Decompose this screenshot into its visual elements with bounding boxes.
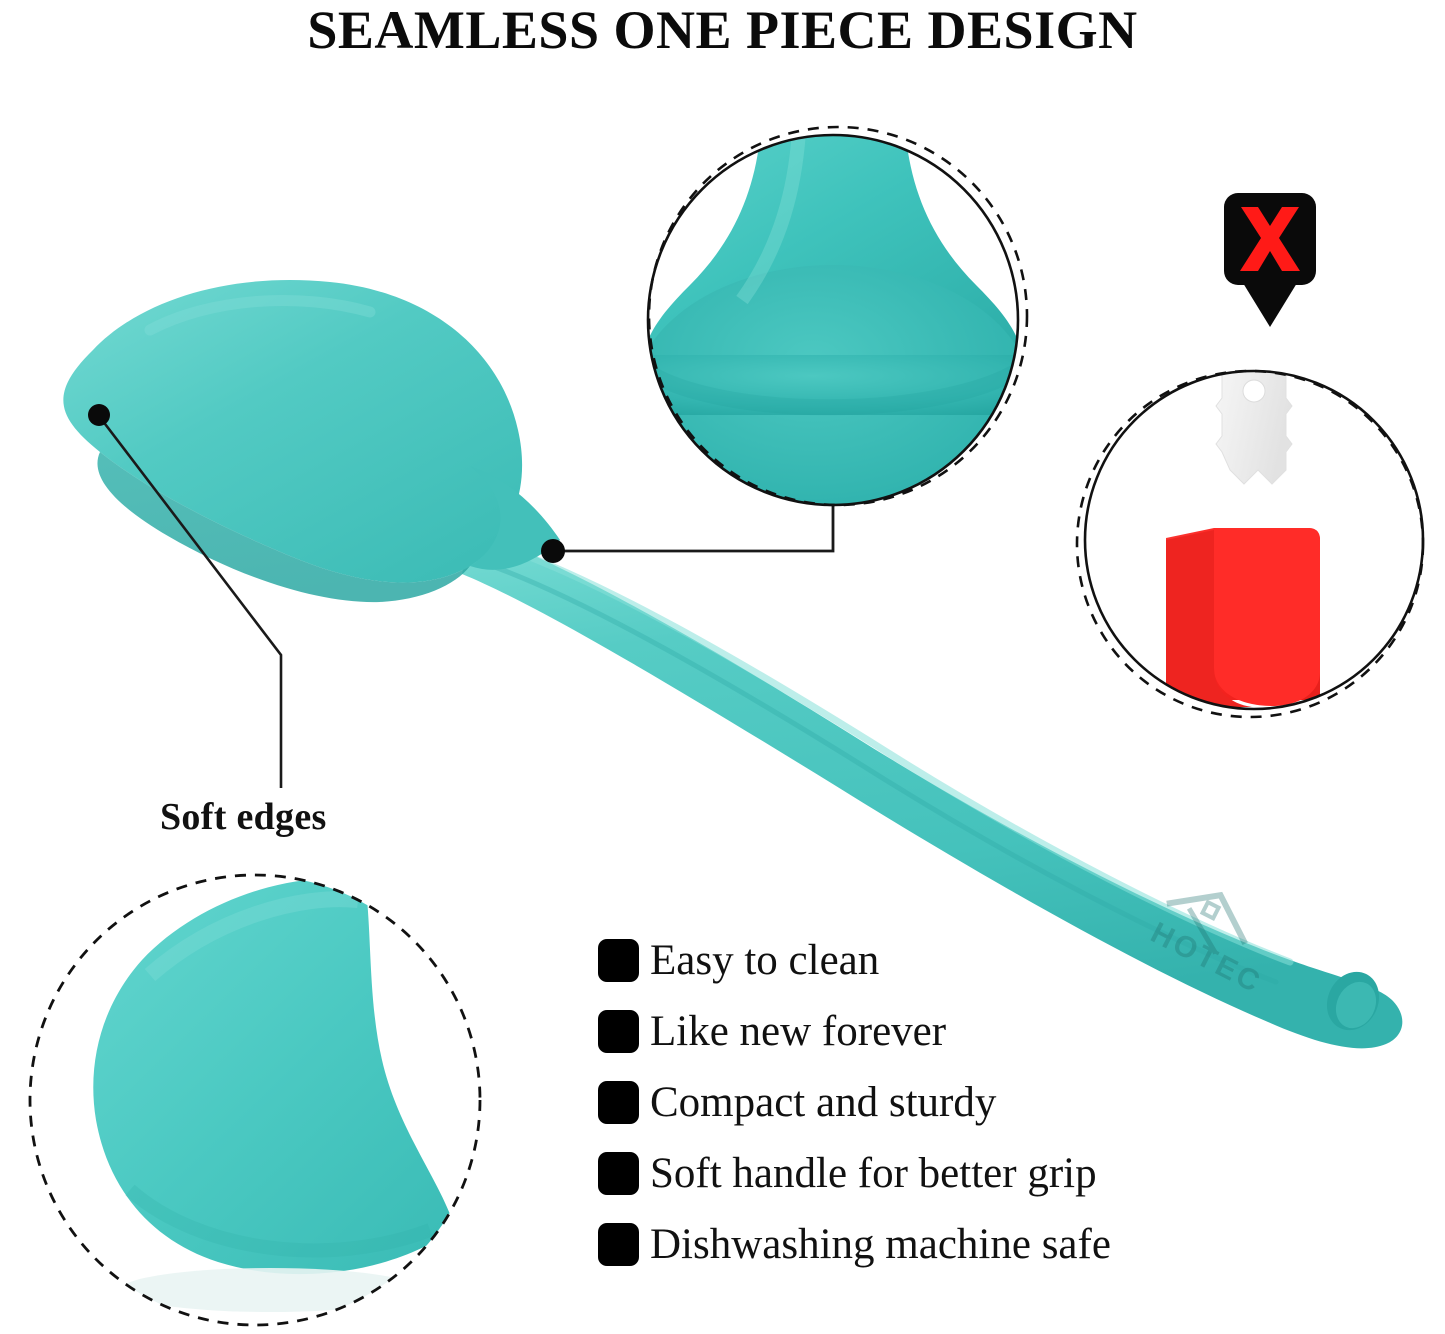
bullet-square-icon — [598, 1010, 639, 1053]
seamless-joint-callout-dot — [541, 539, 565, 563]
joint-inset-solid-ring — [648, 135, 1018, 505]
bullet-square-icon — [598, 1223, 639, 1266]
two-piece-design-inset — [1077, 340, 1430, 717]
spatula-head — [63, 280, 522, 583]
feature-item: Like new forever — [598, 996, 1298, 1067]
page-title: SEAMLESS ONE PIECE DESIGN — [0, 2, 1445, 59]
warning-arrow-icon — [1243, 283, 1297, 327]
feature-item: Easy to clean — [598, 925, 1298, 996]
spatula-head-highlight — [150, 300, 370, 330]
handle-highlight — [500, 546, 1290, 962]
feature-item: Dishwashing machine safe — [598, 1209, 1298, 1280]
feature-label: Soft handle for better grip — [650, 1152, 1097, 1195]
soft-edges-callout-dot — [88, 404, 110, 426]
two-piece-inset-solid-ring — [1085, 371, 1423, 709]
soft-edges-callout — [88, 404, 281, 788]
joint-inset-dashed-ring — [649, 127, 1027, 505]
x-icon — [1224, 193, 1316, 285]
feature-label: Easy to clean — [650, 939, 879, 982]
soft-edge-inset-dashed-ring — [30, 875, 480, 1325]
bullet-square-icon — [598, 1152, 639, 1195]
bullet-square-icon — [598, 1081, 639, 1124]
seamless-joint-zoom-inset — [633, 100, 1033, 535]
soft-edge-zoom-inset — [30, 875, 480, 1325]
feature-label: Compact and sturdy — [650, 1081, 996, 1124]
spatula-neck — [470, 466, 560, 570]
handle-hanging-hole — [1317, 963, 1388, 1039]
no-two-piece-warning — [1224, 193, 1316, 285]
feature-item: Soft handle for better grip — [598, 1138, 1298, 1209]
soft-edges-label: Soft edges — [160, 795, 327, 839]
feature-list: Easy to clean Like new forever Compact a… — [598, 925, 1298, 1280]
handle-shadow — [492, 566, 1276, 982]
feature-label: Like new forever — [650, 1010, 946, 1053]
feature-item: Compact and sturdy — [598, 1067, 1298, 1138]
bullet-square-icon — [598, 939, 639, 982]
handle-hanging-hole-inner — [1328, 975, 1383, 1035]
feature-label: Dishwashing machine safe — [650, 1223, 1111, 1266]
spatula-head-edge — [97, 452, 470, 602]
product-infographic: SEAMLESS ONE PIECE DESIGN — [0, 0, 1445, 1334]
two-piece-inset-dashed-ring — [1077, 371, 1423, 717]
seamless-joint-callout — [541, 500, 833, 563]
